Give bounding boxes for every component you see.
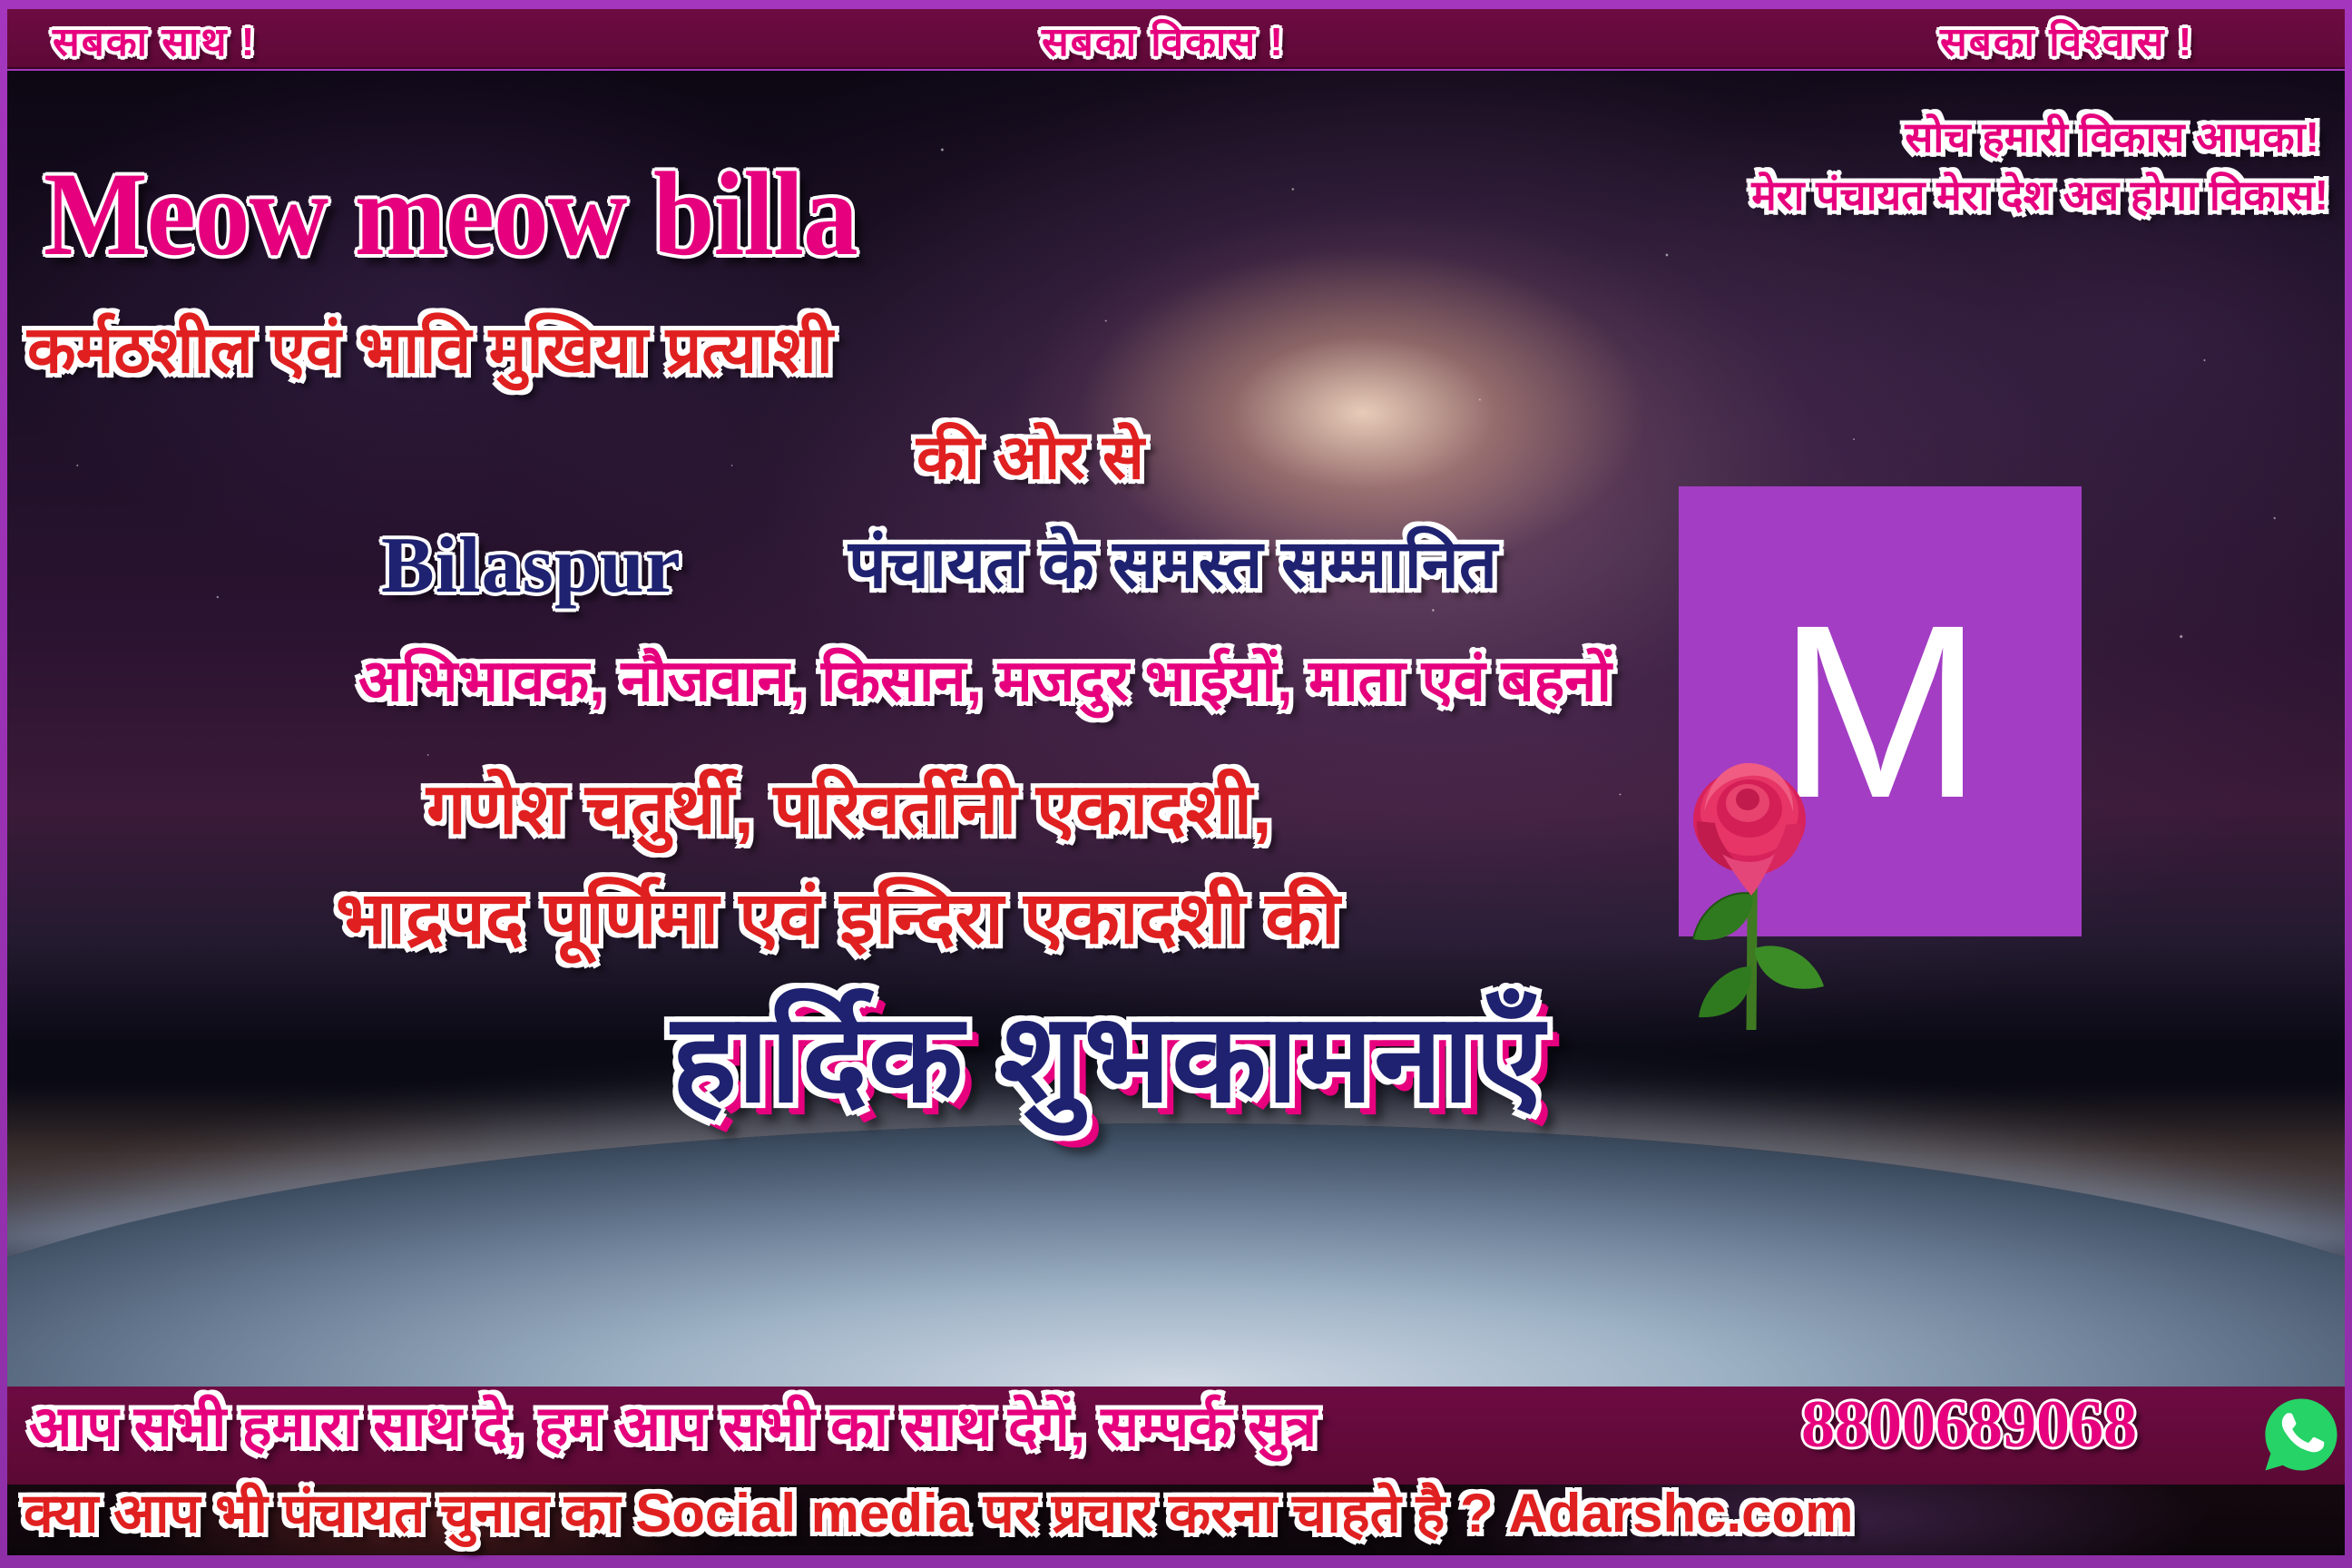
festival-line-1: गणेश चतुर्थी, परिवर्तीनी एकादशी,: [426, 773, 1272, 844]
candidate-subtitle: कर्मठशील एवं भावि मुखिया प्रत्याशी: [27, 318, 833, 383]
promo-prefix: क्या आप भी पंचायत चुनाव का: [24, 1483, 635, 1543]
whatsapp-icon[interactable]: [2262, 1396, 2340, 1474]
footer-support-line: आप सभी हमारा साथ दे, हम आप सभी का साथ दे…: [29, 1399, 1317, 1455]
slogan-sabka-vishwas: सबका विश्वास !: [1940, 13, 2193, 67]
promo-website[interactable]: Adarshc.com: [1508, 1483, 1853, 1543]
contact-phone-number[interactable]: 8800689068: [1801, 1391, 2137, 1458]
candidate-name-headline: Meow meow billa: [44, 154, 857, 274]
corner-tagline-2: मेरा पंचायत मेरा देश अब होगा विकास!: [1751, 174, 2328, 216]
corner-tagline-1: सोच हमारी विकास आपका!: [1905, 116, 2319, 158]
from-label: की ओर से: [916, 426, 1144, 488]
promo-highlight: Social media: [635, 1483, 968, 1543]
panchayat-honorifics-line: पंचायत के समस्त सम्मानित: [848, 531, 1497, 598]
rose-flower-icon: [1651, 667, 1851, 1030]
audience-line: अभिभावक, नौजवान, किसान, मजदुर भाईयों, मा…: [358, 652, 1612, 710]
slogan-sabka-vikas: सबका विकास !: [1042, 13, 1285, 67]
greeting-headline: हार्दिक शुभकामनाएँ: [671, 996, 1544, 1120]
promo-middle: पर प्रचार करना चाहते है ?: [968, 1483, 1508, 1543]
slogan-sabka-saath: सबका साथ !: [53, 13, 256, 67]
election-greeting-poster: सबका साथ ! सबका विकास ! सबका विश्वास ! M…: [0, 0, 2352, 1568]
top-slogan-strip: सबका साथ ! सबका विकास ! सबका विश्वास !: [7, 9, 2345, 69]
footer-promo-line: क्या आप भी पंचायत चुनाव का Social media …: [24, 1486, 1854, 1541]
panchayat-name-top: Bilaspur: [381, 526, 681, 606]
festival-line-2: भाद्रपद पूर्णिमा एवं इन्दिरा एकादशी की: [336, 882, 1340, 955]
